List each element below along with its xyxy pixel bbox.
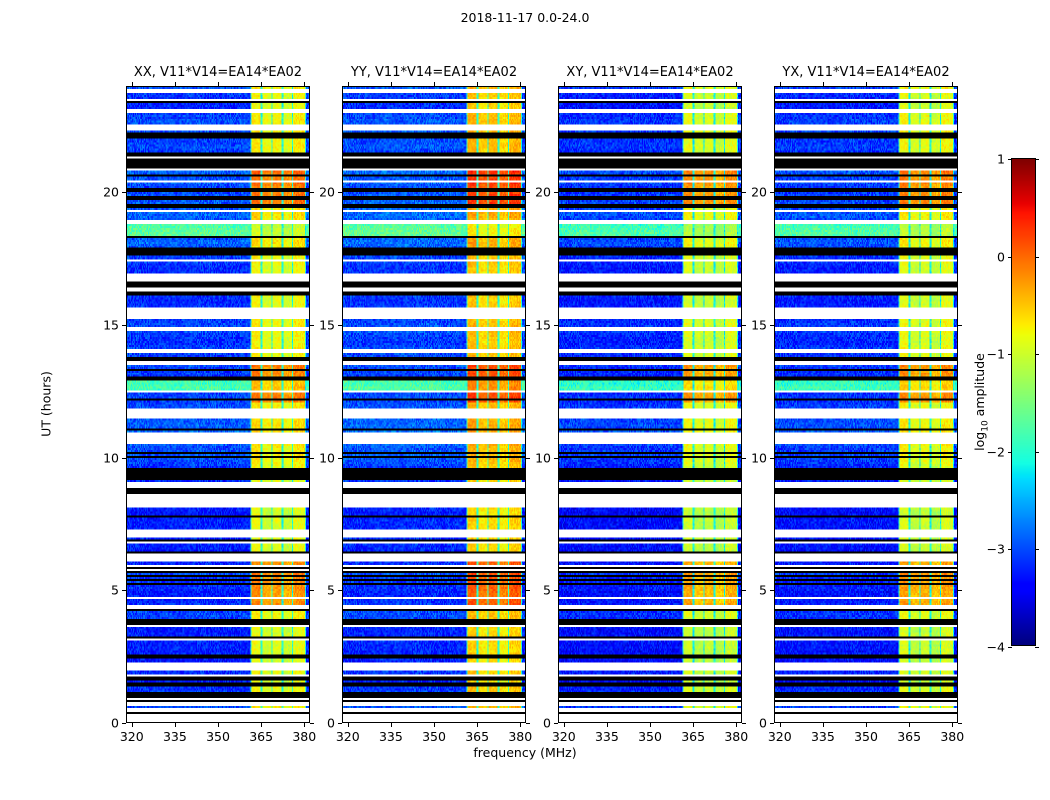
panel-plot-area <box>774 86 958 723</box>
x-tick <box>693 723 694 727</box>
y-tick <box>122 192 126 193</box>
x-tick <box>866 723 867 727</box>
y-tick <box>122 325 126 326</box>
y-tick <box>122 590 126 591</box>
y-tick-right <box>526 325 530 326</box>
y-tick <box>338 590 342 591</box>
spectrogram-image <box>343 87 525 722</box>
y-tick-right <box>310 325 314 326</box>
x-axis-label: frequency (MHz) <box>0 745 1050 760</box>
x-tick-label: 380 <box>292 729 316 744</box>
x-tick-label: 350 <box>206 729 230 744</box>
x-tick <box>348 723 349 727</box>
x-tick-label: 320 <box>768 729 792 744</box>
y-tick-label: 10 <box>319 450 335 465</box>
colorbar[interactable]: 10−1−2−3−4 <box>1011 158 1036 646</box>
x-tick-label: 335 <box>811 729 835 744</box>
x-tick-top <box>304 82 305 86</box>
y-tick-right <box>310 192 314 193</box>
x-tick <box>780 723 781 727</box>
colorbar-tick-inner <box>1008 257 1012 258</box>
x-tick-top <box>866 82 867 86</box>
y-tick <box>122 458 126 459</box>
x-tick-top <box>477 82 478 86</box>
colorbar-gradient <box>1012 159 1035 645</box>
x-tick-label: 365 <box>249 729 273 744</box>
spectrogram-panel-yy[interactable]: YY, V11*V14=EA14*EA023203353503653800510… <box>342 86 526 723</box>
x-tick-top <box>564 82 565 86</box>
spectrogram-image <box>559 87 741 722</box>
colorbar-tick <box>1035 257 1039 258</box>
x-tick-top <box>952 82 953 86</box>
x-tick <box>650 723 651 727</box>
x-tick-top <box>391 82 392 86</box>
x-tick <box>434 723 435 727</box>
y-tick-label: 10 <box>751 450 767 465</box>
y-tick-right <box>742 723 746 724</box>
y-tick-right <box>310 723 314 724</box>
x-tick-label: 320 <box>552 729 576 744</box>
y-tick-right <box>310 458 314 459</box>
x-tick-label: 350 <box>854 729 878 744</box>
colorbar-tick <box>1035 354 1039 355</box>
x-tick-top <box>434 82 435 86</box>
y-tick <box>770 325 774 326</box>
x-tick-top <box>348 82 349 86</box>
colorbar-tick <box>1035 647 1039 648</box>
y-tick-label: 20 <box>535 185 551 200</box>
colorbar-tick-inner <box>1008 452 1012 453</box>
y-tick-right <box>958 590 962 591</box>
y-tick-label: 10 <box>103 450 119 465</box>
panel-title-xx: XX, V11*V14=EA14*EA02 <box>134 65 302 80</box>
x-tick-top <box>218 82 219 86</box>
y-tick <box>770 458 774 459</box>
x-tick-top <box>736 82 737 86</box>
spectrogram-image <box>127 87 309 722</box>
colorbar-tick <box>1035 452 1039 453</box>
colorbar-label-base: log <box>972 432 987 451</box>
x-tick-top <box>261 82 262 86</box>
x-tick <box>607 723 608 727</box>
panel-plot-area <box>342 86 526 723</box>
x-tick-label: 380 <box>724 729 748 744</box>
x-tick <box>304 723 305 727</box>
y-tick-label: 15 <box>319 317 335 332</box>
y-tick <box>554 325 558 326</box>
colorbar-tick <box>1035 159 1039 160</box>
y-tick-right <box>958 192 962 193</box>
x-tick-top <box>650 82 651 86</box>
y-tick-label: 5 <box>759 583 767 598</box>
x-tick-label: 320 <box>120 729 144 744</box>
y-tick-right <box>958 458 962 459</box>
x-tick-label: 380 <box>940 729 964 744</box>
colorbar-tick-label: 1 <box>997 152 1005 167</box>
x-tick <box>261 723 262 727</box>
colorbar-tick-inner <box>1008 354 1012 355</box>
y-tick <box>338 325 342 326</box>
colorbar-label-rest: amplitude <box>972 353 987 420</box>
y-tick <box>122 723 126 724</box>
y-tick-right <box>526 458 530 459</box>
x-tick <box>477 723 478 727</box>
colorbar-tick-inner <box>1008 647 1012 648</box>
spectrogram-panel-xy[interactable]: XY, V11*V14=EA14*EA023203353503653800510… <box>558 86 742 723</box>
y-tick-right <box>310 590 314 591</box>
panel-title-yy: YY, V11*V14=EA14*EA02 <box>351 65 517 80</box>
x-tick-top <box>607 82 608 86</box>
x-tick <box>175 723 176 727</box>
colorbar-tick-label: −4 <box>987 640 1005 655</box>
x-tick-label: 365 <box>897 729 921 744</box>
y-tick <box>554 458 558 459</box>
y-tick <box>770 192 774 193</box>
colorbar-tick-label: −3 <box>987 542 1005 557</box>
y-tick <box>338 192 342 193</box>
x-tick <box>823 723 824 727</box>
y-tick-label: 15 <box>751 317 767 332</box>
y-tick-label: 15 <box>103 317 119 332</box>
y-tick-right <box>742 325 746 326</box>
y-tick-right <box>958 723 962 724</box>
y-tick-label: 5 <box>327 583 335 598</box>
y-tick-right <box>742 458 746 459</box>
y-tick-label: 20 <box>751 185 767 200</box>
x-tick <box>909 723 910 727</box>
x-tick-label: 335 <box>163 729 187 744</box>
y-tick-label: 15 <box>535 317 551 332</box>
y-tick <box>554 723 558 724</box>
y-tick-right <box>958 325 962 326</box>
x-tick-label: 365 <box>465 729 489 744</box>
colorbar-label-sub: 10 <box>980 420 990 431</box>
panel-title-xy: XY, V11*V14=EA14*EA02 <box>566 65 733 80</box>
colorbar-tick-inner <box>1008 549 1012 550</box>
y-tick <box>338 723 342 724</box>
y-tick <box>338 458 342 459</box>
spectrogram-panel-xx[interactable]: XX, V11*V14=EA14*EA023203353503653800510… <box>126 86 310 723</box>
x-tick-top <box>823 82 824 86</box>
x-tick-label: 380 <box>508 729 532 744</box>
x-tick <box>391 723 392 727</box>
x-tick <box>736 723 737 727</box>
colorbar-tick-inner <box>1008 159 1012 160</box>
x-tick <box>218 723 219 727</box>
y-tick <box>770 590 774 591</box>
x-tick-top <box>520 82 521 86</box>
x-tick-top <box>909 82 910 86</box>
x-tick-label: 320 <box>336 729 360 744</box>
colorbar-tick-label: 0 <box>997 249 1005 264</box>
panel-plot-area <box>558 86 742 723</box>
spectrogram-panel-yx[interactable]: YX, V11*V14=EA14*EA023203353503653800510… <box>774 86 958 723</box>
x-tick-top <box>780 82 781 86</box>
y-tick-right <box>742 590 746 591</box>
x-tick-label: 335 <box>595 729 619 744</box>
figure-suptitle: 2018-11-17 0.0-24.0 <box>0 10 1050 25</box>
y-tick-label: 5 <box>543 583 551 598</box>
x-tick-top <box>175 82 176 86</box>
x-tick <box>520 723 521 727</box>
y-axis-label: UT (hours) <box>39 371 54 437</box>
y-tick-right <box>526 723 530 724</box>
x-tick-label: 335 <box>379 729 403 744</box>
y-tick-label: 0 <box>543 716 551 731</box>
figure-canvas: 2018-11-17 0.0-24.0 XX, V11*V14=EA14*EA0… <box>0 0 1050 800</box>
y-tick-right <box>526 192 530 193</box>
panel-plot-area <box>126 86 310 723</box>
y-tick-right <box>526 590 530 591</box>
colorbar-label: log10 amplitude <box>972 353 991 451</box>
y-tick-label: 0 <box>759 716 767 731</box>
y-tick-label: 0 <box>327 716 335 731</box>
panel-title-yx: YX, V11*V14=EA14*EA02 <box>782 65 949 80</box>
y-tick <box>554 192 558 193</box>
spectrogram-image <box>775 87 957 722</box>
y-tick-label: 20 <box>319 185 335 200</box>
y-tick-label: 0 <box>111 716 119 731</box>
x-tick-label: 350 <box>638 729 662 744</box>
y-tick-label: 20 <box>103 185 119 200</box>
x-tick <box>564 723 565 727</box>
x-tick-label: 365 <box>681 729 705 744</box>
x-tick-label: 350 <box>422 729 446 744</box>
x-tick <box>952 723 953 727</box>
y-tick <box>770 723 774 724</box>
y-tick-right <box>742 192 746 193</box>
y-tick <box>554 590 558 591</box>
y-tick-label: 5 <box>111 583 119 598</box>
y-tick-label: 10 <box>535 450 551 465</box>
x-tick-top <box>132 82 133 86</box>
x-tick <box>132 723 133 727</box>
x-tick-top <box>693 82 694 86</box>
colorbar-tick <box>1035 549 1039 550</box>
